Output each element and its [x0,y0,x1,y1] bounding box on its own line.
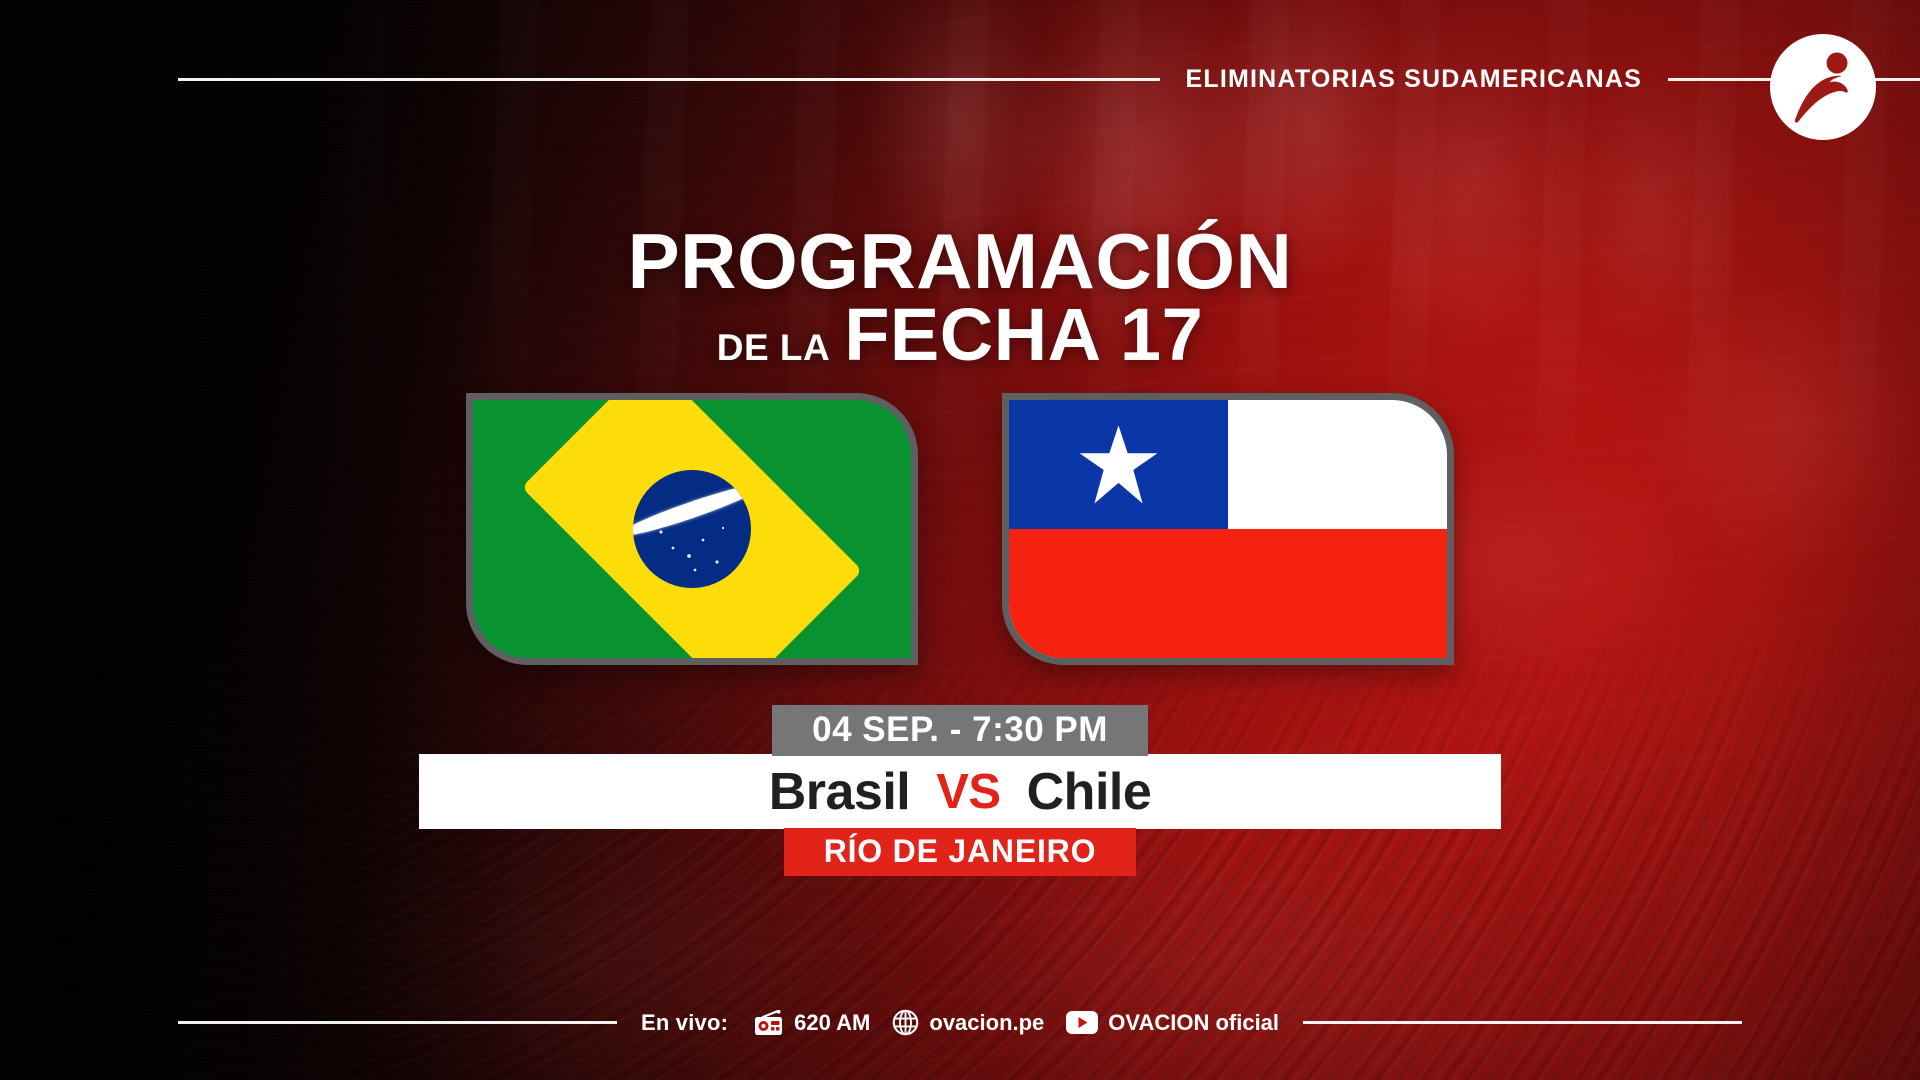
chile-flag-canton [1009,400,1228,529]
channel-youtube-label: OVACION oficial [1108,1010,1279,1036]
ovacion-athlete-logo [1770,34,1876,140]
headline: PROGRAMACIÓN DE LA FECHA 17 [0,225,1920,370]
match-venue: RÍO DE JANEIRO [784,828,1137,876]
league-title: ELIMINATORIAS SUDAMERICANAS [1186,65,1642,94]
youtube-icon [1066,1011,1098,1034]
radio-icon [754,1010,784,1036]
headline-prefix: DE LA [717,331,831,366]
header-bar: ELIMINATORIAS SUDAMERICANAS [178,62,1920,96]
footer-bar: En vivo: 620 AM [178,1009,1742,1036]
header-rule-left [178,78,1160,81]
footer-rule-right [1303,1021,1742,1024]
match-datetime: 04 SEP. - 7:30 PM [772,705,1148,756]
brazil-flag-globe [633,470,751,588]
headline-line-1: PROGRAMACIÓN [0,225,1920,298]
headline-line-2: DE LA FECHA 17 [0,300,1920,370]
channel-radio[interactable]: 620 AM [754,1010,870,1036]
match-teams-bar: Brasil VS Chile [419,754,1501,829]
away-team-name: Chile [1027,762,1152,822]
globe-icon [892,1009,919,1036]
match-info-block: 04 SEP. - 7:30 PM Brasil VS Chile RÍO DE… [0,705,1920,876]
chile-flag-star [1080,426,1158,504]
flags-row [0,393,1920,665]
footer-rule-left [178,1021,617,1024]
versus-label: VS [936,764,1000,820]
brazil-flag-icon [466,393,918,665]
live-label: En vivo: [641,1010,728,1036]
channel-radio-label: 620 AM [794,1010,870,1036]
broadcast-channels: En vivo: 620 AM [641,1009,1279,1036]
headline-matchday: FECHA 17 [844,300,1203,370]
channel-website-label: ovacion.pe [929,1010,1044,1036]
channel-website[interactable]: ovacion.pe [892,1009,1044,1036]
home-team-name: Brasil [769,762,911,822]
channel-youtube[interactable]: OVACION oficial [1066,1010,1279,1036]
chile-flag-icon [1002,393,1454,665]
match-announcement-poster: ELIMINATORIAS SUDAMERICANAS PROGRAMACIÓN… [0,0,1920,1080]
chile-flag-red-band [1009,529,1447,658]
